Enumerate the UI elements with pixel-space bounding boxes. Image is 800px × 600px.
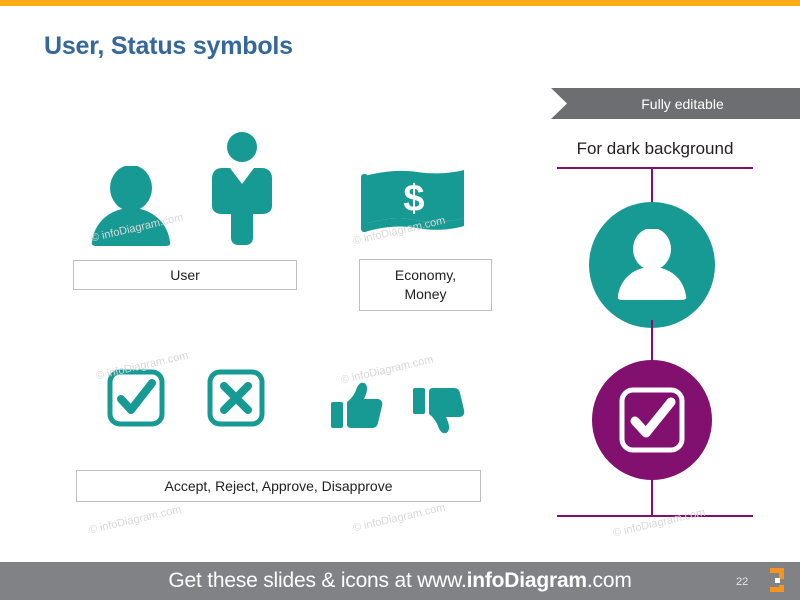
connector-line-lower <box>651 477 653 517</box>
user-avatar-icon <box>86 166 176 246</box>
page-number: 22 <box>736 576 748 588</box>
watermark: © infoDiagram.com <box>612 507 707 540</box>
footer-prefix: Get these slides & icons at www. <box>168 569 466 593</box>
svg-text:$: $ <box>403 178 424 220</box>
connector-line-upper <box>651 167 653 207</box>
thumbs-up-icon <box>331 382 383 430</box>
label-box-accept-text: Accept, Reject, Approve, Disapprove <box>164 477 392 496</box>
watermark: © infoDiagram.com <box>88 504 183 537</box>
check-square-icon <box>107 369 165 427</box>
footer-text: Get these slides & icons at www.infoDiag… <box>0 562 800 600</box>
label-box-accept: Accept, Reject, Approve, Disapprove <box>76 470 481 502</box>
fully-editable-ribbon-text: Fully editable <box>551 88 800 119</box>
banknote-dollar-icon: $ <box>361 168 468 238</box>
label-box-user: User <box>73 260 297 290</box>
label-box-user-text: User <box>170 266 200 285</box>
dark-background-caption: For dark background <box>557 139 753 159</box>
check-circle-icon <box>592 360 712 480</box>
divider-line-bottom <box>557 515 753 517</box>
footer-suffix: .com <box>587 569 632 593</box>
label-box-economy-line2: Money <box>395 285 456 304</box>
divider-line-top <box>557 167 753 169</box>
page-title: User, Status symbols <box>44 32 293 61</box>
businessman-icon <box>212 132 272 245</box>
infodiagram-logo <box>764 566 790 594</box>
label-box-economy: Economy, Money <box>359 259 492 311</box>
label-box-economy-line1: Economy, <box>395 266 456 285</box>
connector-line-middle <box>651 320 653 365</box>
top-accent-bar <box>0 0 800 6</box>
footer-brand: infoDiagram <box>467 569 587 593</box>
user-circle-icon <box>589 202 715 328</box>
slide-canvas: User, Status symbols $ Use <box>0 0 800 600</box>
cross-square-icon <box>207 369 265 427</box>
thumbs-down-icon <box>413 382 465 434</box>
watermark: © infoDiagram.com <box>352 502 447 535</box>
